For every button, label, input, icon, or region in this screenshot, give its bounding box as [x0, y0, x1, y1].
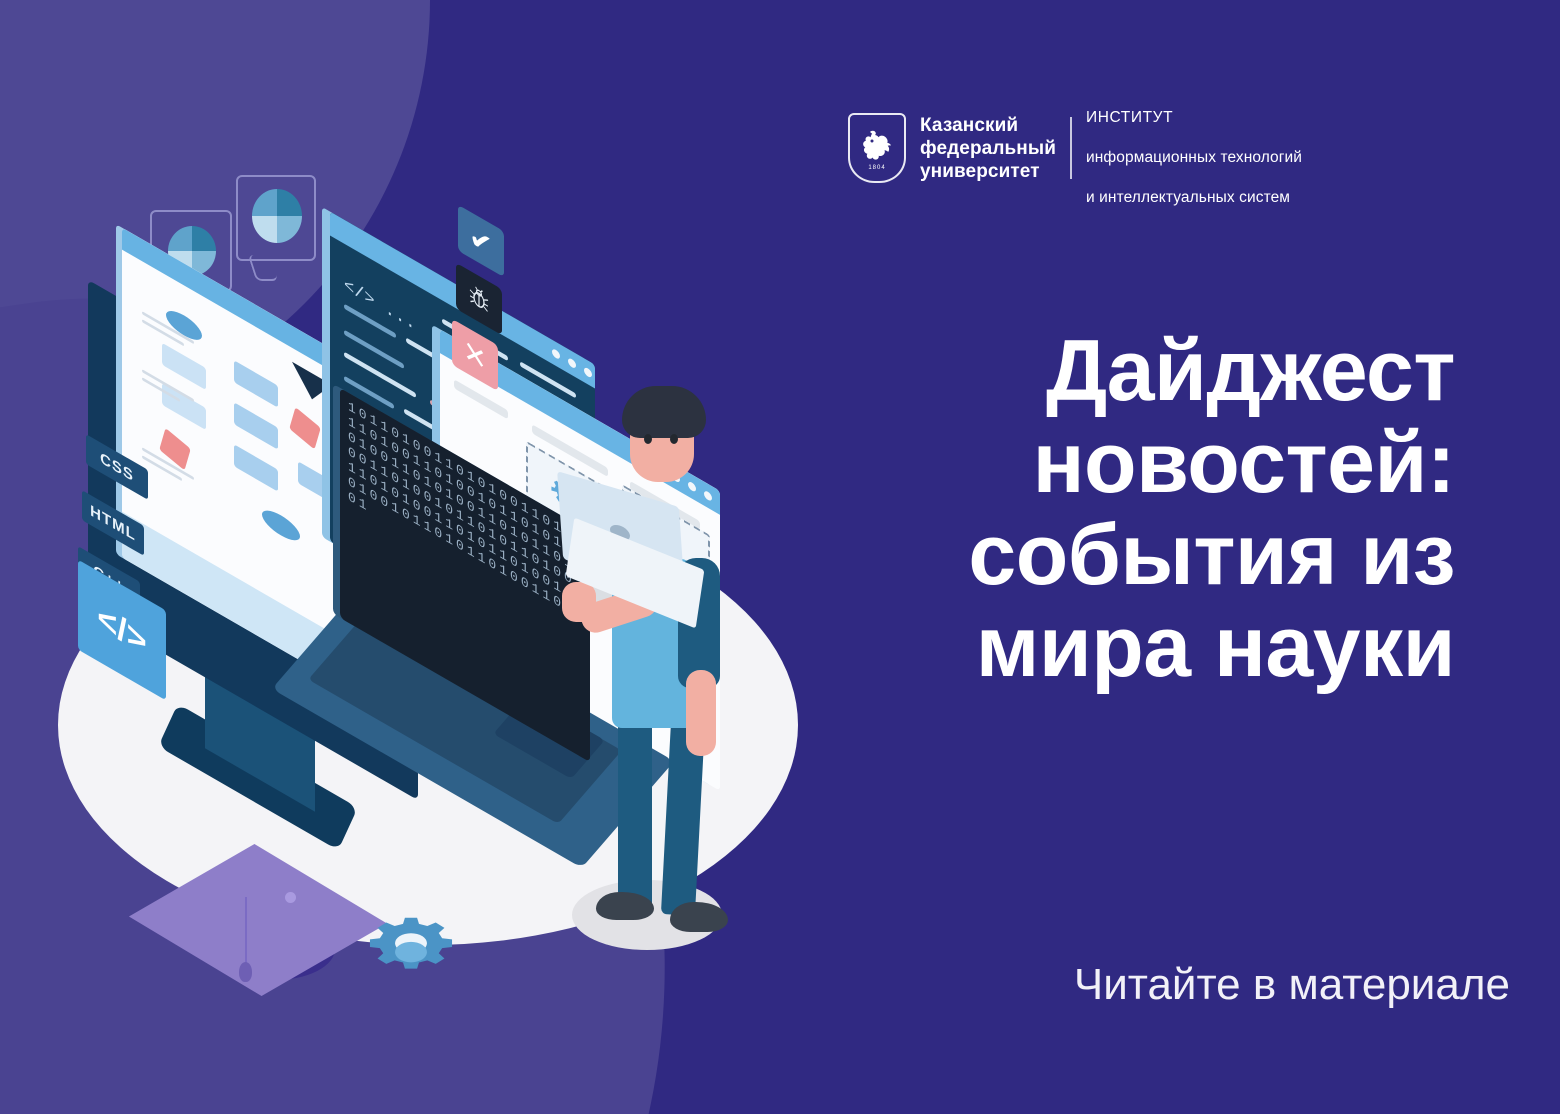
cross-glyph: ✕	[463, 332, 486, 379]
flow-funnel-icon	[292, 362, 332, 411]
flow-node-alert	[289, 407, 321, 449]
institute-line-2: информационных технологий	[1086, 149, 1302, 166]
isometric-illustration: CSS HTML C++ </> </> ...	[40, 190, 830, 890]
kfu-logo: 1804 Казанский федеральный университет И…	[848, 88, 1302, 208]
gear-glyph	[365, 908, 457, 984]
flow-node	[234, 402, 278, 449]
institute-line-3: и интеллектуальных систем	[1086, 189, 1290, 206]
pie-chart-icon	[252, 189, 302, 243]
flow-node	[162, 343, 206, 390]
code-tile-glyph: </>	[97, 596, 146, 663]
flow-node	[234, 444, 278, 491]
poster-canvas: CSS HTML C++ </> </> ...	[0, 0, 1560, 1114]
cta-text: Читайте в материале	[750, 960, 1510, 1010]
character-arm-right	[686, 670, 716, 756]
graduation-cap-tassel	[245, 897, 247, 967]
character-hair	[622, 386, 706, 438]
institute-name: ИНСТИТУТ информационных технологий и инт…	[1086, 88, 1302, 208]
bug-glyph	[467, 280, 491, 318]
pie-bubble-right	[236, 175, 316, 261]
desk-gear-icon	[365, 908, 457, 984]
flow-node-alert	[159, 428, 191, 470]
check-glyph: ✔	[469, 218, 492, 265]
character-eye-left	[644, 434, 652, 444]
university-name: Казанский федеральный университет	[920, 114, 1056, 183]
character-leg-left	[618, 720, 652, 910]
graduation-cap-button	[285, 892, 296, 903]
flow-node	[162, 383, 206, 430]
check-icon: ✔	[458, 205, 504, 278]
kfu-shield-emblem: 1804	[848, 113, 906, 183]
flow-node	[234, 360, 278, 407]
logo-divider	[1070, 117, 1072, 179]
character-hand-left	[562, 582, 596, 622]
emblem-year: 1804	[868, 165, 885, 171]
graduation-cap-tassel-end	[239, 962, 252, 982]
flow-node-end	[262, 504, 300, 546]
institute-line-1: ИНСТИТУТ	[1086, 109, 1173, 126]
character-eye-right	[670, 434, 678, 444]
zilant-dragon-icon: 1804	[857, 124, 897, 172]
page-title: Дайджест новостей: события из мира науки	[735, 325, 1455, 693]
